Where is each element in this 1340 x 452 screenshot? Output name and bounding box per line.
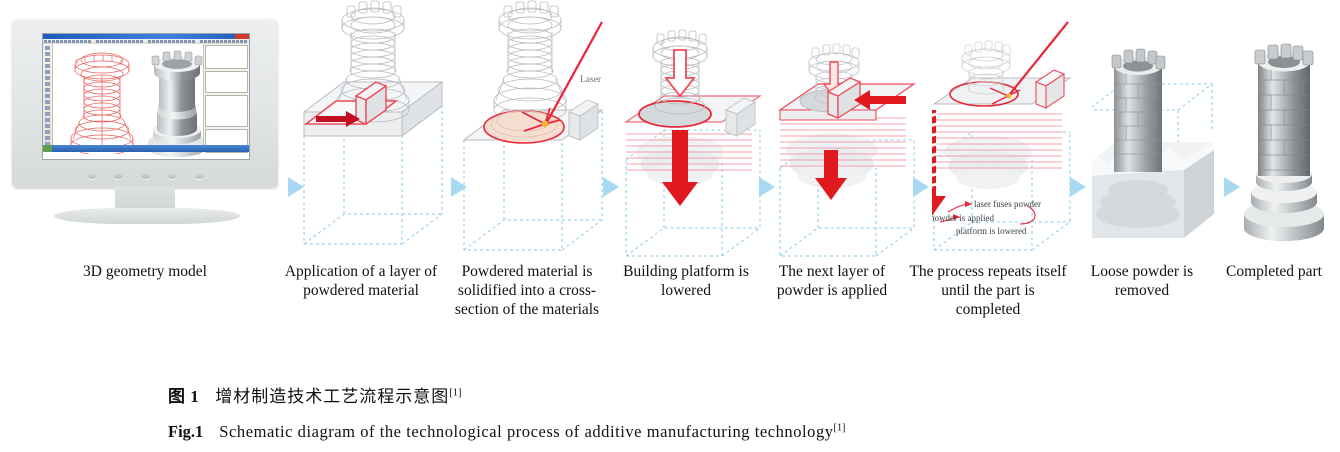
figure-caption-chinese: 图 1增材制造技术工艺流程示意图[1] (168, 382, 462, 407)
cad-workspace (43, 44, 249, 152)
figure-number-en: Fig.1 (168, 422, 203, 441)
flow-arrow-6 (1068, 175, 1088, 199)
monitor-button[interactable] (87, 174, 96, 179)
partially-buried-part (1112, 49, 1165, 172)
panel-next-powder-layer (778, 0, 930, 262)
illustration-laser-solidify: Laser (452, 0, 616, 262)
panel-loose-powder-removed (1092, 0, 1228, 262)
flow-arrow-7 (1222, 175, 1242, 199)
annotation-powder-is-applied: powder is applied (932, 213, 994, 223)
panel-apply-powder-layer (290, 0, 454, 262)
figure-container: Laser (0, 0, 1340, 452)
computer-monitor (12, 18, 278, 218)
flow-arrow-2 (449, 175, 469, 199)
cad-left-toolbar (43, 44, 53, 152)
figure-caption-cn-text: 增材制造技术工艺流程示意图 (215, 387, 449, 406)
annotation-platform-is-lowered: platform is lowered (956, 226, 1027, 236)
step-caption-laser-solidify: Powdered material is solidified into a c… (440, 262, 614, 319)
wireframe-model (67, 50, 137, 154)
monitor-bezel (12, 18, 278, 188)
flow-arrow-4 (757, 175, 777, 199)
flow-arrow-3 (601, 175, 621, 199)
solid-model (145, 50, 209, 158)
monitor-button[interactable] (195, 174, 204, 179)
illustration-powder-removed (1092, 0, 1228, 262)
figure-ref-en: [1] (834, 423, 846, 434)
illustration-process-repeats: laser fuses powder powder is applied pla… (932, 0, 1084, 262)
monitor-button[interactable] (114, 174, 123, 179)
figure-caption-english: Fig.1Schematic diagram of the technologi… (168, 422, 845, 442)
annotation-laser-fuses-powder: laser fuses powder (974, 199, 1041, 209)
cad-property-panel (203, 44, 249, 152)
monitor-button[interactable] (168, 174, 177, 179)
panel-platform-lowered (622, 0, 772, 262)
flow-arrow-1 (286, 175, 306, 199)
panel-process-repeats: laser fuses powder powder is applied pla… (932, 0, 1084, 262)
monitor-stand-base (54, 208, 240, 224)
step-caption-apply-powder-layer: Application of a layer of powdered mater… (282, 262, 440, 300)
step-caption-completed-part: Completed part (1216, 262, 1332, 281)
panel-3d-geometry-model (4, 0, 286, 262)
laser-label: Laser (580, 75, 602, 85)
monitor-button[interactable] (141, 174, 150, 179)
flow-arrow-5 (911, 175, 931, 199)
step-caption-3d-geometry-model: 3D geometry model (10, 262, 280, 281)
figure-ref-cn: [1] (449, 387, 461, 398)
cad-statusbar (43, 145, 249, 152)
step-caption-loose-powder-removed: Loose powder is removed (1072, 262, 1212, 300)
panel-completed-part (1232, 0, 1336, 262)
panel-laser-solidify: Laser (452, 0, 616, 262)
step-caption-next-powder-layer: The next layer of powder is applied (756, 262, 908, 300)
cad-canvas (53, 44, 202, 152)
illustration-completed-part (1232, 0, 1336, 262)
process-illustration-row: Laser (0, 0, 1340, 262)
illustration-next-layer (778, 0, 930, 262)
step-caption-row: 3D geometry model Application of a layer… (0, 262, 1340, 372)
step-caption-process-repeats: The process repeats itself until the par… (908, 262, 1068, 319)
illustration-platform-lowered (622, 0, 772, 262)
figure-caption-en-text: Schematic diagram of the technological p… (219, 422, 833, 441)
monitor-screen (42, 33, 250, 160)
step-caption-platform-lowered: Building platform is lowered (616, 262, 756, 300)
figure-number-cn: 图 1 (168, 387, 199, 406)
monitor-buttons[interactable] (12, 166, 278, 182)
illustration-apply-powder (290, 0, 454, 262)
